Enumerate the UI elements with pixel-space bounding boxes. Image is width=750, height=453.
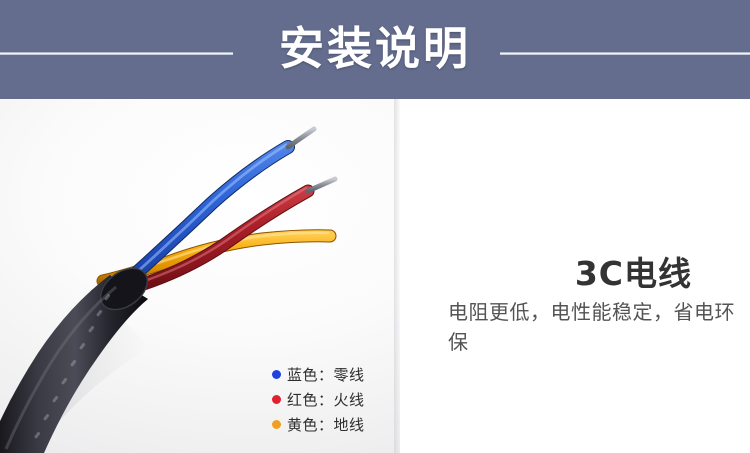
red-wire-tip	[308, 179, 335, 191]
product-title: 3C电线	[575, 247, 692, 295]
legend-label-red: 红色：火线	[287, 389, 365, 410]
legend-item-yellow: 黄色：地线	[272, 412, 397, 437]
yellow-dot-icon	[272, 420, 281, 429]
legend-item-red: 红色：火线	[272, 387, 397, 412]
page-header-banner: 安装说明	[0, 0, 750, 99]
legend-label-yellow: 黄色：地线	[287, 414, 365, 435]
wire-color-legend: 蓝色：零线 红色：火线 黄色：地线	[272, 362, 397, 437]
page-title: 安装说明	[0, 17, 750, 81]
blue-wire-tip	[288, 129, 314, 147]
product-description: 电阻更低，电性能稳定，省电环保	[448, 297, 748, 357]
installation-instructions-page: 安装说明	[0, 0, 750, 453]
legend-label-blue: 蓝色：零线	[287, 364, 365, 385]
red-dot-icon	[272, 395, 281, 404]
legend-item-blue: 蓝色：零线	[272, 362, 397, 387]
blue-dot-icon	[272, 370, 281, 379]
product-info-panel: 3C电线 电阻更低，电性能稳定，省电环保	[400, 99, 750, 453]
